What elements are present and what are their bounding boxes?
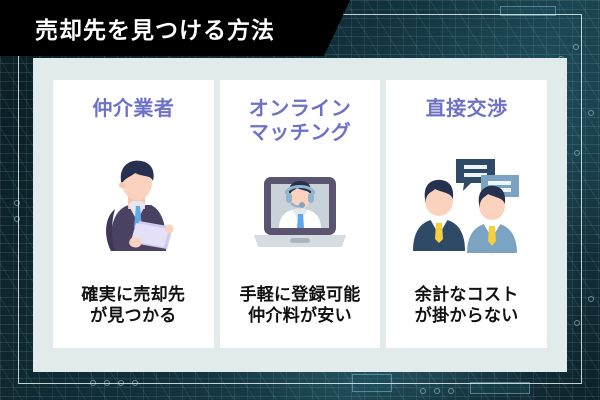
card-brokerage[interactable]: 仲介業者 [53, 80, 214, 348]
card-illustration-direct-negotiation [386, 122, 547, 284]
two-people-negotiating-icon [409, 153, 525, 253]
card-heading-brokerage: 仲介業者 [92, 98, 174, 122]
page-title: 売却先を見つける方法 [35, 11, 275, 45]
card-heading-direct-negotiation: 直接交渉 [426, 98, 508, 122]
card-illustration-online-matching [220, 145, 381, 284]
card-illustration-brokerage [53, 122, 214, 284]
card-caption-direct-negotiation: 余計なコスト が掛からない [415, 284, 519, 348]
slide-canvas: 売却先を見つける方法 仲介業者 [0, 0, 600, 400]
card-online-matching[interactable]: オンライン マッチング [220, 80, 381, 348]
title-banner: 売却先を見つける方法 [0, 0, 350, 56]
card-row: 仲介業者 [53, 80, 547, 348]
card-caption-online-matching: 手軽に登録可能 仲介料が安い [239, 284, 360, 348]
businessman-with-documents-icon [81, 151, 185, 255]
card-heading-online-matching: オンライン マッチング [249, 98, 352, 145]
card-direct-negotiation[interactable]: 直接交渉 [386, 80, 547, 348]
card-caption-brokerage: 確実に売却先 が見つかる [81, 284, 185, 348]
laptop-video-call-icon [246, 167, 354, 263]
